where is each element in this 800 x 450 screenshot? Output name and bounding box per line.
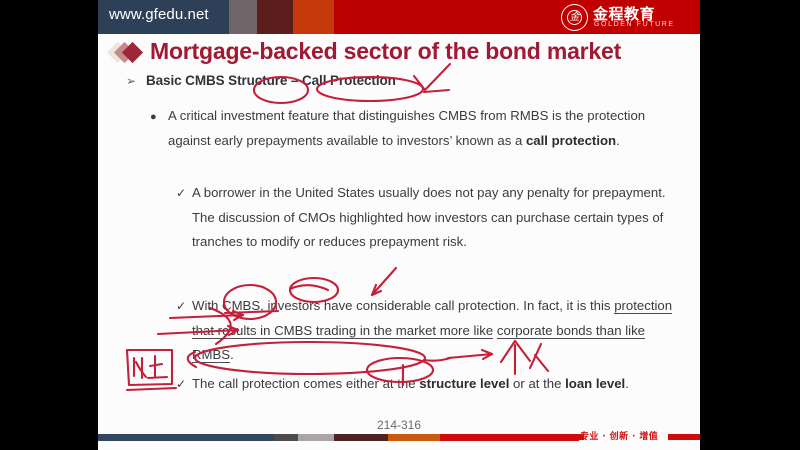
sub3-mid: or at the [509,376,565,391]
bullet-part2: . [616,133,620,148]
header-strip-orange [293,0,334,34]
round-bullet-icon: ● [150,105,157,130]
footer-strip-navy [98,434,274,441]
sub3-bold-structure-level: structure level [419,376,509,391]
ink-box-handwriting [127,350,172,385]
ink-box-underline [127,388,176,390]
footer-strip-maroon [334,434,388,441]
ink-squiggle-risk [290,285,328,290]
arrow-bullet-icon: ➢ [126,74,136,88]
sub2-lead: With CMBS, investors have considerable c… [192,298,614,313]
bullet-bold-call-protection: call protection [526,133,616,148]
footer-strip-lightgray [298,434,334,441]
check-bullet-icon: ✓ [176,372,186,397]
seal-icon: 金 [561,4,588,31]
sub-bullet-1-text: A borrower in the United States usually … [192,181,689,255]
ink-hw-char2 [148,356,167,378]
sub3-lead: The call protection comes either at the [192,376,419,391]
header-website-url: www.gfedu.net [109,6,209,23]
brand-logo: 金 金程教育 GOLDEN FUTURE [557,1,696,34]
ink-arrow-risk [372,268,396,295]
page-title: Mortgage-backed sector of the bond marke… [150,38,621,65]
check-bullet-icon: ✓ [176,181,186,206]
logo-english-name: GOLDEN FUTURE [594,21,675,28]
footer-tagline: 专业 · 创新 · 增值 [580,429,658,442]
ink-hw-char1 [134,358,146,378]
slide-header: www.gfedu.net 金 金程教育 GOLDEN FUTURE [98,0,700,34]
ink-dash-heading [424,90,449,92]
footer-strip-darkgray [274,434,298,441]
slide-title-row: Mortgage-backed sector of the bond marke… [106,38,700,70]
main-bullet-text: A critical investment feature that disti… [168,104,673,153]
sub-bullet-2-text: With CMBS, investors have considerable c… [192,294,689,368]
header-strip-maroon [257,0,293,34]
section-heading-label: Basic CMBS Structure – Call Protection [146,73,396,88]
slide-canvas: www.gfedu.net 金 金程教育 GOLDEN FUTURE Mortg… [98,0,700,450]
sub2-tail: . [230,347,234,362]
footer-strip-orange [388,434,440,441]
tagline-dash-right [668,434,700,440]
sub3-bold-loan-level: loan level [565,376,625,391]
sub-bullet-3-text: The call protection comes either at the … [192,372,689,397]
check-bullet-icon: ✓ [176,294,186,319]
header-strip-gray [229,0,257,34]
footer-strip-red [440,434,579,441]
sub3-tail: . [625,376,629,391]
seal-inner-mark: 金 [567,10,582,25]
screenshot-stage: www.gfedu.net 金 金程教育 GOLDEN FUTURE Mortg… [0,0,800,450]
